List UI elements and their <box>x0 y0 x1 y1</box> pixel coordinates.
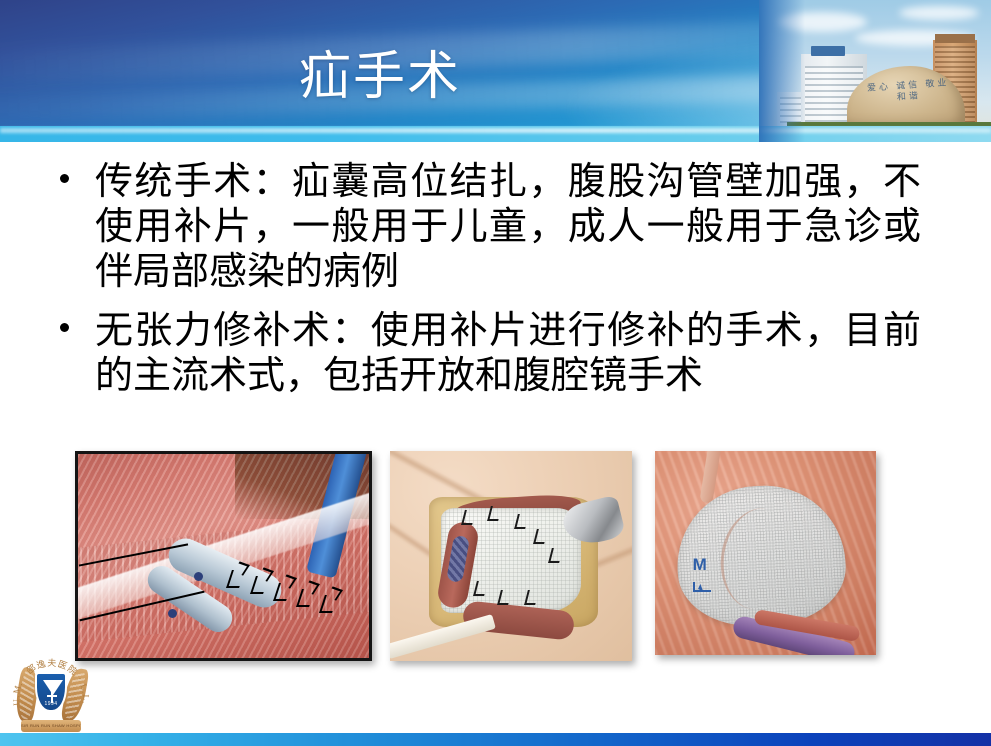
bullet-text: 传统手术：疝囊高位结扎，腹股沟管壁加强，不使用补片，一般用于儿童，成人一般用于急… <box>95 161 921 293</box>
slide-root: 爱心 诚信 敬业 和谐 疝手术 传统手术：疝囊高位结扎，腹股沟管壁加强，不使用补… <box>0 0 991 746</box>
photo-left-fade <box>759 0 805 142</box>
logo-year-label: 1994 <box>37 701 65 707</box>
stone-inscription-text: 爱心 诚信 敬业 和谐 <box>866 77 952 117</box>
bullet-dot-icon <box>60 323 69 332</box>
dove-icon <box>43 680 63 695</box>
figure-row: M <box>0 451 991 661</box>
footer-gradient-bar <box>0 733 991 746</box>
hospital-tower-cap <box>935 34 975 43</box>
mesh-marker-arrow-icon <box>693 582 711 592</box>
page-title: 疝手术 <box>0 48 760 108</box>
bullet-item-tension-free: 无张力修补术：使用补片进行修补的手术，目前的主流术式，包括开放和腹腔镜手术 <box>0 309 991 399</box>
figure-open-mesh-repair <box>390 451 632 661</box>
logo-scroll-banner: SIR RUN RUN SHAW HOSPITAL <box>21 720 81 732</box>
hospital-logo: Z.U.M. · 邵逸夫医院 · L.L.U. 1994 SIR RUN RUN… <box>13 658 89 734</box>
figure-traditional-repair <box>75 451 372 661</box>
bullet-dot-icon <box>60 174 69 183</box>
hospital-campus-photo: 爱心 诚信 敬业 和谐 <box>759 0 991 142</box>
hospital-building-signboard <box>811 46 845 56</box>
bullet-item-traditional: 传统手术：疝囊高位结扎，腹股沟管壁加强，不使用补片，一般用于儿童，成人一般用于急… <box>0 160 991 295</box>
slide-header-banner: 爱心 诚信 敬业 和谐 疝手术 <box>0 0 991 142</box>
cloud-shape <box>899 6 979 20</box>
slide-content: 传统手术：疝囊高位结扎，腹股沟管壁加强，不使用补片，一般用于儿童，成人一般用于急… <box>0 160 991 413</box>
cross-icon-bar <box>47 695 57 697</box>
bullet-list: 传统手术：疝囊高位结扎，腹股沟管壁加强，不使用补片，一般用于儿童，成人一般用于急… <box>0 160 991 399</box>
mesh-marker-label: M <box>693 557 707 573</box>
header-band-highlight <box>0 128 991 133</box>
logo-scroll-label: SIR RUN RUN SHAW HOSPITAL <box>21 723 81 728</box>
logo-shield: 1994 <box>35 672 67 712</box>
figure-laparoscopic-mesh: M <box>655 451 876 655</box>
bullet-text: 无张力修补术：使用补片进行修补的手术，目前的主流术式，包括开放和腹腔镜手术 <box>95 310 921 397</box>
